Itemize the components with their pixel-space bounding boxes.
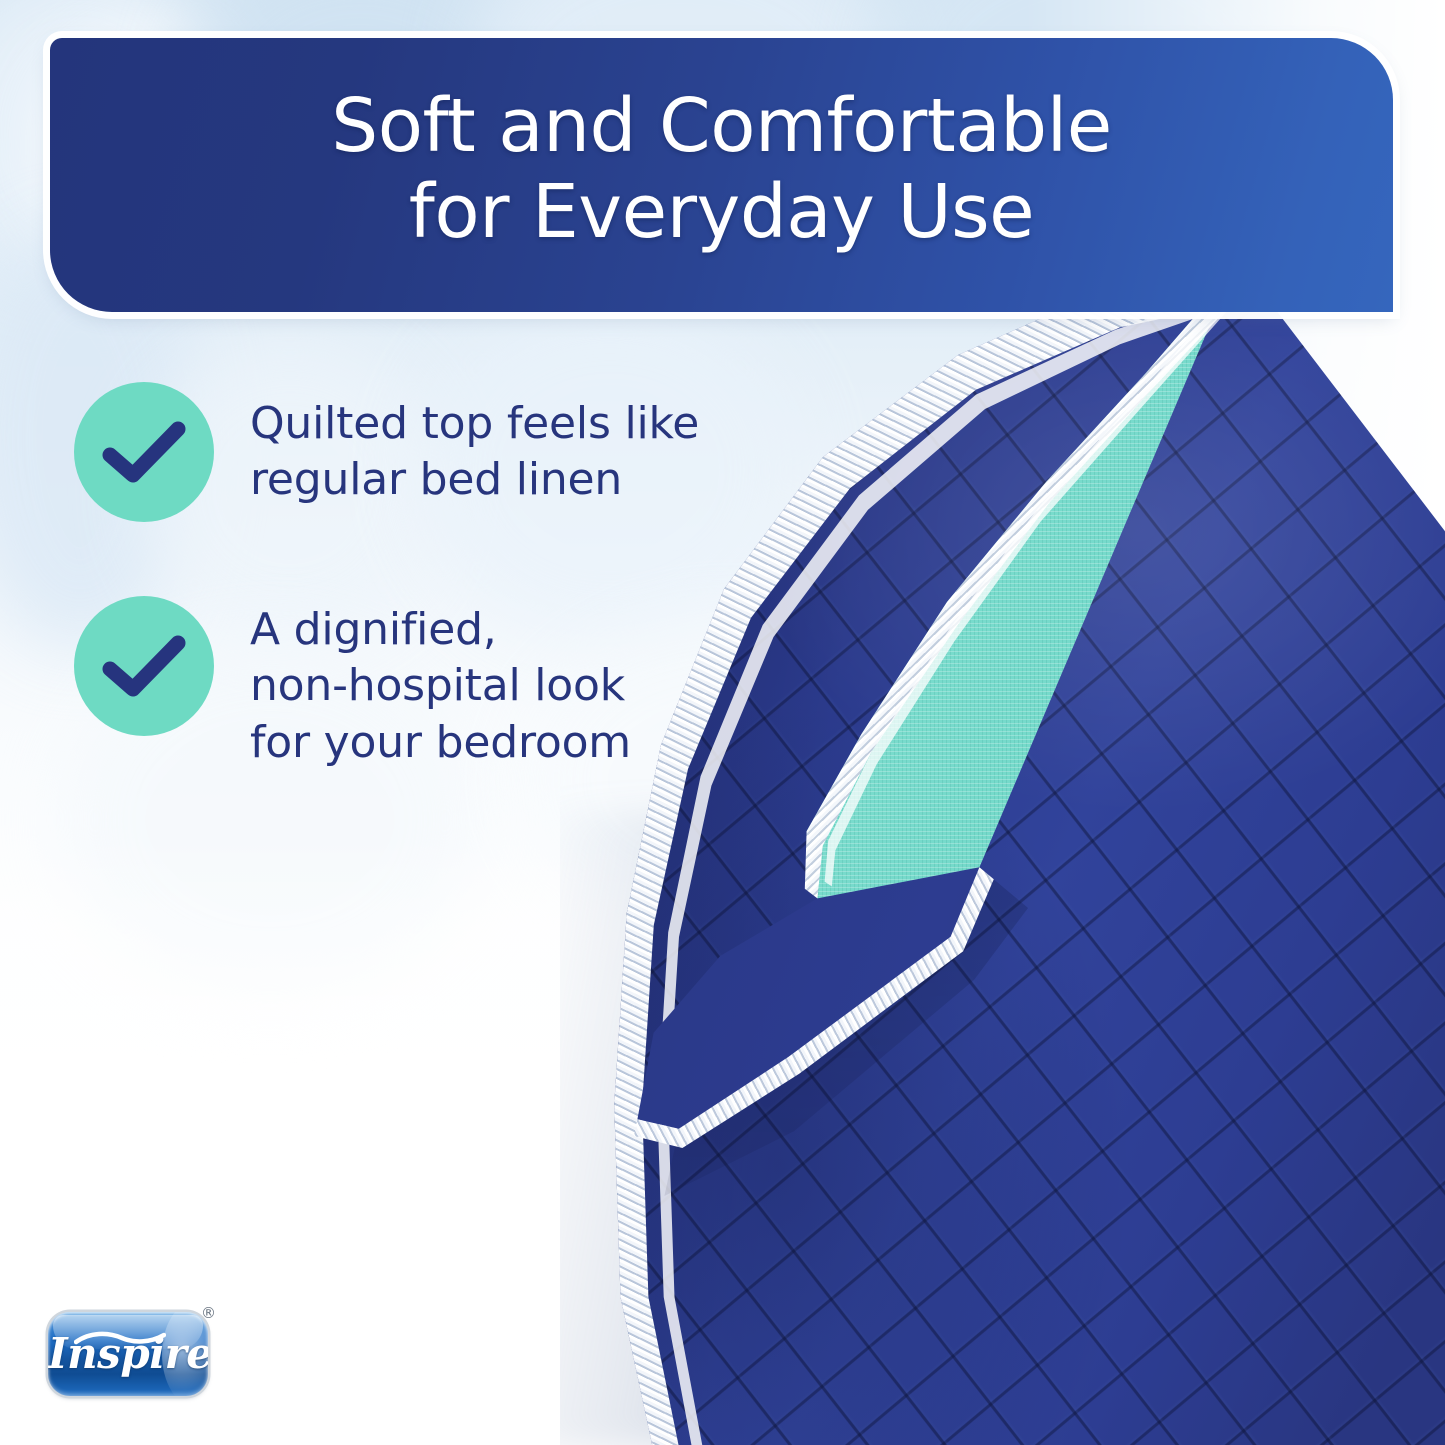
logo-swoosh-icon xyxy=(74,1331,166,1347)
feature-list: Quilted top feels like regular bed linen… xyxy=(74,382,734,845)
list-item: Quilted top feels like regular bed linen xyxy=(74,382,734,522)
logo-badge: Inspire xyxy=(48,1312,208,1396)
feature-text: A dignified, non-hospital look for your … xyxy=(250,596,631,771)
registered-trademark-symbol: ® xyxy=(201,1306,216,1321)
feature-text: Quilted top feels like regular bed linen xyxy=(250,382,699,509)
headline-banner: Soft and Comfortable for Everyday Use xyxy=(50,38,1393,312)
check-icon xyxy=(74,596,214,736)
check-icon xyxy=(74,382,214,522)
product-feature-image: Soft and Comfortable for Everyday Use Qu… xyxy=(0,0,1445,1445)
page-title: Soft and Comfortable for Everyday Use xyxy=(331,84,1111,256)
brand-logo: Inspire ® xyxy=(48,1306,214,1398)
list-item: A dignified, non-hospital look for your … xyxy=(74,596,734,771)
